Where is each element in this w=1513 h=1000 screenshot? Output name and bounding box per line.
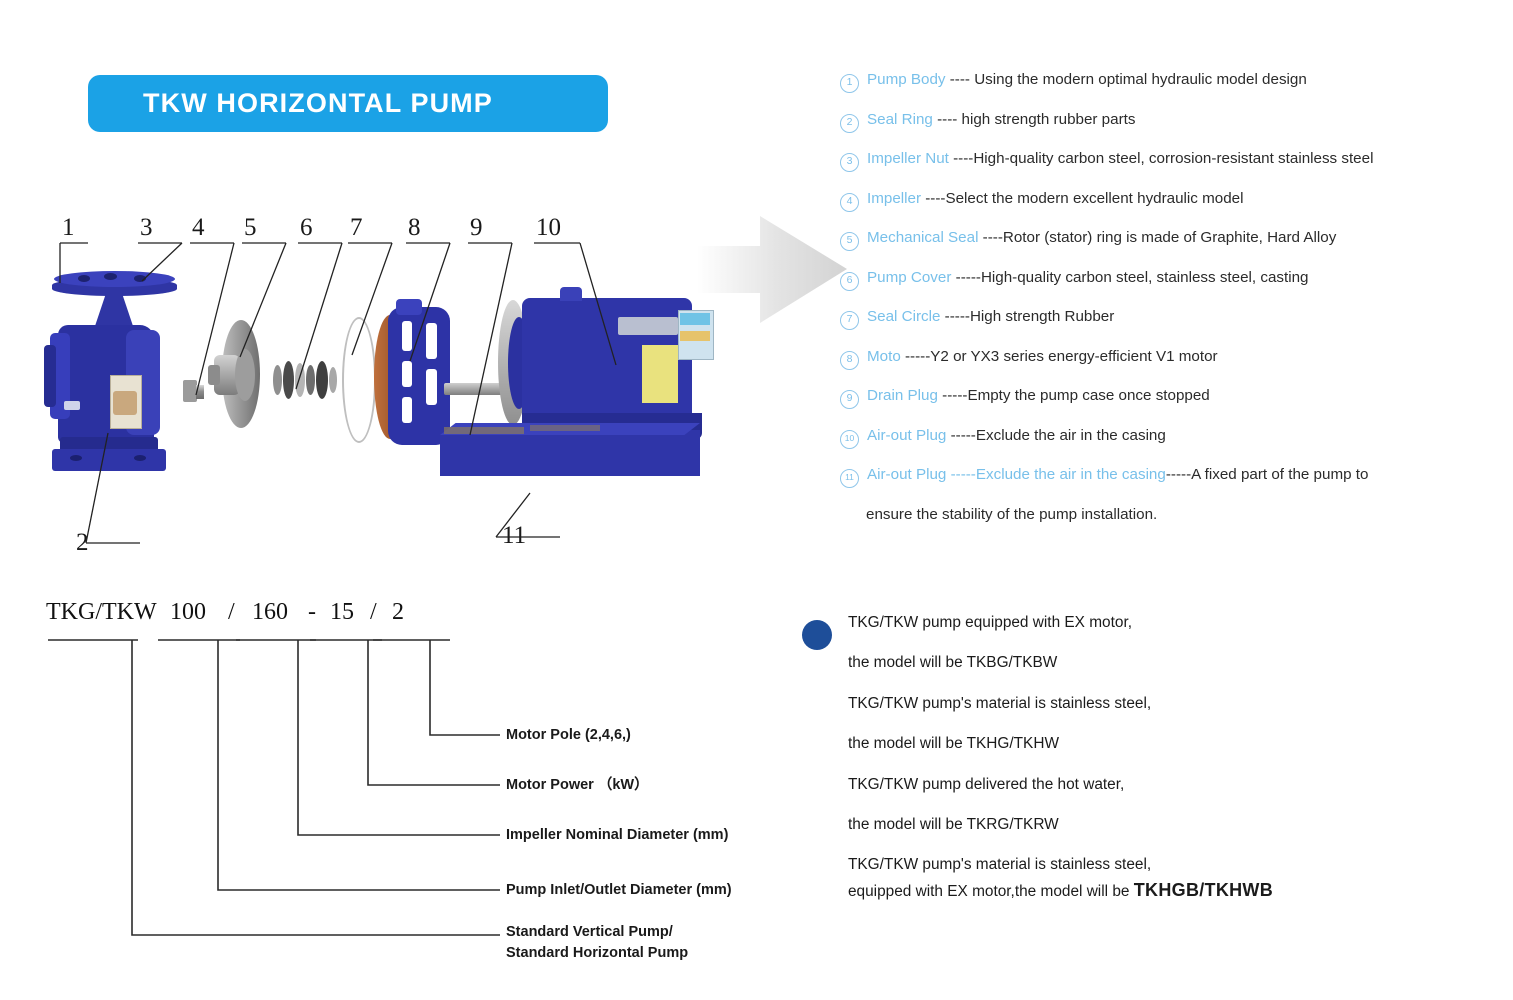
nomen-label-motor-power: Motor Power （kW）	[506, 776, 649, 796]
legend-sep-7: -----	[940, 308, 970, 325]
legend-desc-11-line2: ensure the stability of the pump install…	[866, 505, 1505, 526]
legend-text-5: Mechanical Seal ----Rotor (stator) ring …	[867, 228, 1336, 249]
code-dash: -	[308, 599, 316, 626]
callout-8: 8	[408, 215, 421, 240]
legend-sep-1: ----	[946, 71, 975, 88]
legend-number-3: 3	[840, 153, 859, 172]
page-title-banner: TKW HORIZONTAL PUMP	[88, 75, 608, 132]
code-inlet: 100	[170, 599, 206, 626]
legend-part-name-7: Seal Circle	[867, 308, 940, 325]
note-line-7: TKG/TKW pump's material is stainless ste…	[848, 857, 1422, 872]
legend-number-2: 2	[840, 114, 859, 133]
legend-part-name-10: Air-out Plug	[867, 427, 946, 444]
note-line-8-text: equipped with EX motor,the model will be	[848, 883, 1134, 900]
nomen-label-impeller-dia: Impeller Nominal Diameter (mm)	[506, 826, 728, 846]
right-arrow-icon	[697, 212, 847, 327]
callout-3: 3	[140, 215, 153, 240]
legend-desc-11: A fixed part of the pump to	[1191, 466, 1368, 483]
legend-desc-6: High-quality carbon steel, stainless ste…	[981, 269, 1309, 286]
seal-circle-artwork	[342, 317, 376, 443]
legend-text-10: Air-out Plug -----Exclude the air in the…	[867, 426, 1166, 447]
legend-desc-9: Empty the pump case once stopped	[967, 387, 1209, 404]
legend-item-9: 9 Drain Plug -----Empty the pump case on…	[840, 386, 1505, 409]
note-model-tkhgb: TKHGB/TKHWB	[1134, 880, 1273, 900]
code-power: 15	[330, 599, 354, 626]
legend-part-name-4: Impeller	[867, 190, 921, 207]
legend-desc-1: Using the modern optimal hydraulic model…	[974, 71, 1307, 88]
model-nomenclature-diagram: TKG/TKW 100 / 160 - 15 / 2 Motor Pole (2…	[30, 595, 730, 975]
callout-5: 5	[244, 215, 257, 240]
legend-part-name-5: Mechanical Seal	[867, 229, 978, 246]
legend-text-7: Seal Circle -----High strength Rubber	[867, 307, 1114, 328]
legend-sep-5: ----	[978, 229, 1002, 246]
legend-text-3: Impeller Nut ----High-quality carbon ste…	[867, 149, 1373, 170]
legend-number-1: 1	[840, 74, 859, 93]
callout-7: 7	[350, 215, 363, 240]
legend-sep-3: ----	[949, 150, 973, 167]
note-line-1: TKG/TKW pump equipped with EX motor,	[848, 615, 1422, 630]
legend-desc-3: High-quality carbon steel, corrosion-res…	[973, 150, 1373, 167]
legend-sep-8: -----	[901, 348, 931, 365]
legend-item-8: 8 Moto -----Y2 or YX3 series energy-effi…	[840, 347, 1505, 370]
code-slash-2: /	[370, 599, 377, 626]
legend-item-6: 6 Pump Cover -----High-quality carbon st…	[840, 268, 1505, 291]
callout-6: 6	[300, 215, 313, 240]
legend-part-name-6: Pump Cover	[867, 269, 951, 286]
page-title: TKW HORIZONTAL PUMP	[143, 88, 493, 119]
code-impeller: 160	[252, 599, 288, 626]
legend-number-8: 8	[840, 351, 859, 370]
parts-legend: 1 Pump Body ---- Using the modern optima…	[840, 70, 1505, 525]
legend-part-name-1: Pump Body	[867, 71, 946, 88]
legend-part-name-8: Moto	[867, 348, 901, 365]
legend-number-4: 4	[840, 193, 859, 212]
note-line-3: TKG/TKW pump's material is stainless ste…	[848, 696, 1422, 711]
callout-4: 4	[192, 215, 205, 240]
note-line-5: TKG/TKW pump delivered the hot water,	[848, 777, 1422, 792]
legend-text-4: Impeller ----Select the modern excellent…	[867, 189, 1244, 210]
legend-sep-4: ----	[921, 190, 945, 207]
legend-sep-2: ----	[933, 111, 962, 128]
legend-number-10: 10	[840, 430, 859, 449]
legend-text-9: Drain Plug -----Empty the pump case once…	[867, 386, 1210, 407]
legend-part-name-11: Air-out Plug	[867, 466, 946, 483]
legend-desc-blue-11: Exclude the air in the casing	[976, 466, 1166, 483]
legend-item-4: 4 Impeller ----Select the modern excelle…	[840, 189, 1505, 212]
note-line-2: the model will be TKBG/TKBW	[848, 655, 1422, 670]
legend-item-11: 11 Air-out Plug -----Exclude the air in …	[840, 465, 1505, 488]
legend-sep-9: -----	[938, 387, 968, 404]
note-line-4: the model will be TKHG/TKHW	[848, 736, 1422, 751]
code-pole: 2	[392, 599, 404, 626]
bullet-icon	[802, 620, 832, 650]
callout-10: 10	[536, 215, 561, 240]
legend-desc-2: high strength rubber parts	[962, 111, 1136, 128]
legend-sep-11: -----	[946, 466, 976, 483]
legend-number-5: 5	[840, 232, 859, 251]
legend-part-name-9: Drain Plug	[867, 387, 938, 404]
legend-part-name-2: Seal Ring	[867, 111, 933, 128]
callout-9: 9	[470, 215, 483, 240]
nomen-label-inlet-outlet-dia: Pump Inlet/Outlet Diameter (mm)	[506, 881, 732, 901]
legend-sep-10: -----	[946, 427, 976, 444]
legend-item-10: 10 Air-out Plug -----Exclude the air in …	[840, 426, 1505, 449]
legend-desc-8: Y2 or YX3 series energy-efficient V1 mot…	[930, 348, 1217, 365]
legend-text-6: Pump Cover -----High-quality carbon stee…	[867, 268, 1308, 289]
legend-text-1: Pump Body ---- Using the modern optimal …	[867, 70, 1307, 91]
code-prefix: TKG/TKW	[46, 599, 157, 626]
legend-sep-6: -----	[951, 269, 981, 286]
legend-sep2-11: -----	[1166, 466, 1191, 483]
legend-text-11: Air-out Plug -----Exclude the air in the…	[867, 465, 1368, 486]
legend-number-7: 7	[840, 311, 859, 330]
legend-number-11: 11	[840, 469, 859, 488]
callout-2: 2	[76, 530, 89, 555]
legend-desc-5: Rotor (stator) ring is made of Graphite,…	[1003, 229, 1336, 246]
code-slash-1: /	[228, 599, 235, 626]
nomen-label-standard-vertical: Standard Vertical Pump/	[506, 923, 673, 943]
nomen-label-motor-pole: Motor Pole (2,4,6,)	[506, 726, 631, 746]
nomen-label-standard-horizontal: Standard Horizontal Pump	[506, 944, 688, 964]
legend-desc-7: High strength Rubber	[970, 308, 1114, 325]
legend-text-2: Seal Ring ---- high strength rubber part…	[867, 110, 1135, 131]
note-line-8: equipped with EX motor,the model will be…	[848, 881, 1422, 899]
legend-text-8: Moto -----Y2 or YX3 series energy-effici…	[867, 347, 1218, 368]
legend-number-6: 6	[840, 272, 859, 291]
model-variants-notes: TKG/TKW pump equipped with EX motor, the…	[802, 615, 1422, 924]
exploded-pump-diagram: 1 3 4 5 6 7 8 9 10 2 11	[30, 205, 710, 565]
legend-item-5: 5 Mechanical Seal ----Rotor (stator) rin…	[840, 228, 1505, 251]
legend-item-2: 2 Seal Ring ---- high strength rubber pa…	[840, 110, 1505, 133]
callout-11: 11	[502, 523, 526, 548]
note-line-6: the model will be TKRG/TKRW	[848, 817, 1422, 832]
legend-item-1: 1 Pump Body ---- Using the modern optima…	[840, 70, 1505, 93]
legend-desc-4: Select the modern excellent hydraulic mo…	[945, 190, 1243, 207]
legend-desc-10: Exclude the air in the casing	[976, 427, 1166, 444]
legend-item-7: 7 Seal Circle -----High strength Rubber	[840, 307, 1505, 330]
callout-1: 1	[62, 215, 75, 240]
legend-number-9: 9	[840, 390, 859, 409]
legend-item-3: 3 Impeller Nut ----High-quality carbon s…	[840, 149, 1505, 172]
legend-part-name-3: Impeller Nut	[867, 150, 949, 167]
